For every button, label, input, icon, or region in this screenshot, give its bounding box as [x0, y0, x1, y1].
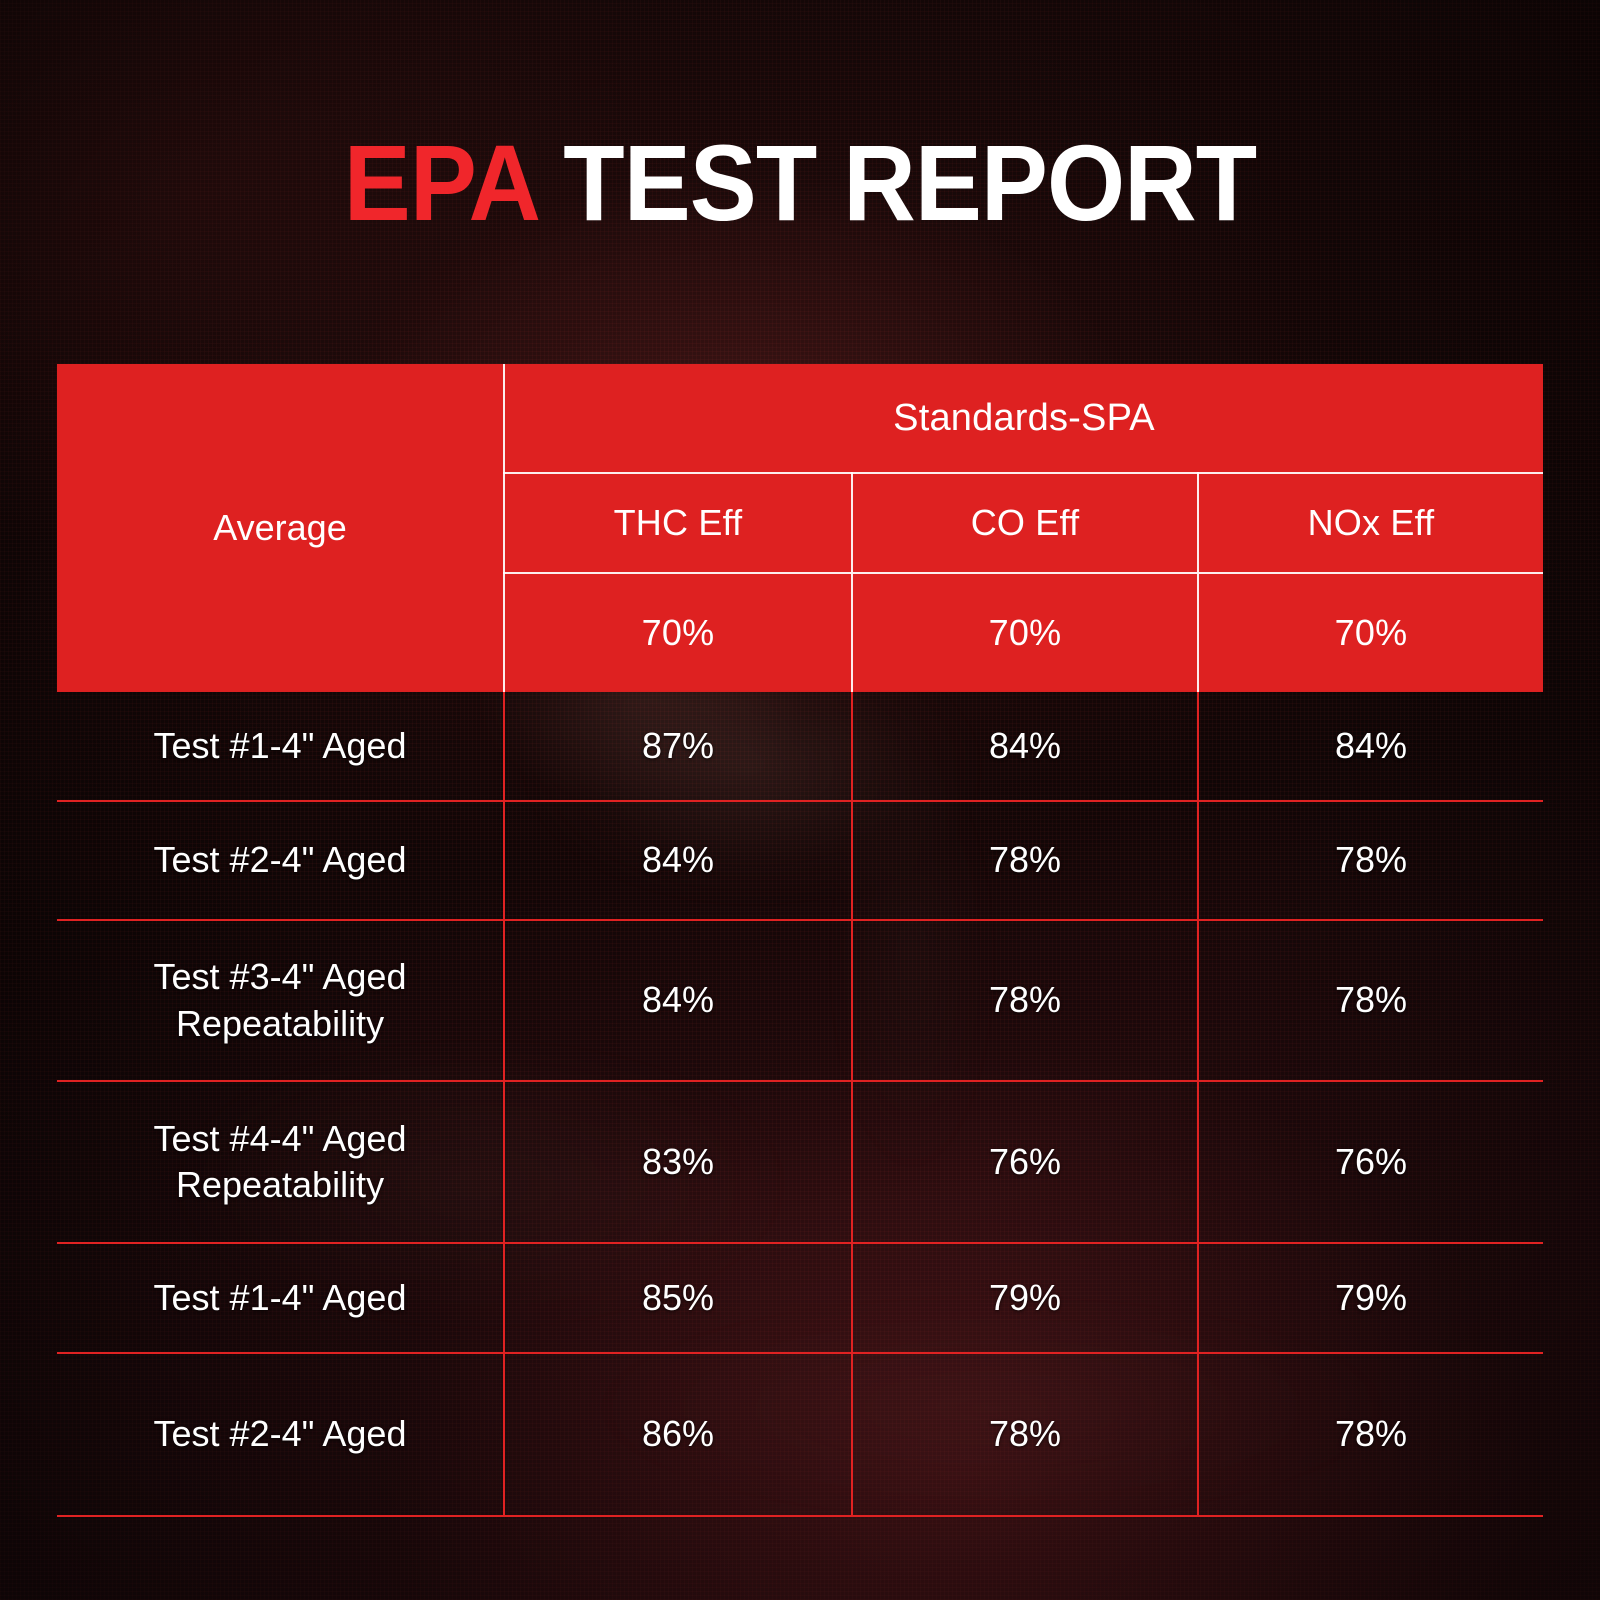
cell-co-eff: 76% — [852, 1081, 1198, 1243]
cell-co-eff: 78% — [852, 920, 1198, 1081]
table-row: Test #1-4" Aged 85% 79% 79% — [57, 1243, 1543, 1353]
row-label: Test #4-4" Aged Repeatability — [57, 1081, 504, 1243]
header-col-thc-eff: THC Eff — [504, 473, 852, 573]
cell-thc-eff: 84% — [504, 920, 852, 1081]
header-col-nox-eff: NOx Eff — [1198, 473, 1543, 573]
report-page: EPA TEST REPORT Average Standards-SPA TH… — [0, 0, 1600, 1600]
header-col-co-eff: CO Eff — [852, 473, 1198, 573]
cell-nox-eff: 76% — [1198, 1081, 1543, 1243]
table-row: Test #2-4" Aged 86% 78% 78% — [57, 1353, 1543, 1516]
cell-nox-eff: 78% — [1198, 920, 1543, 1081]
row-label: Test #1-4" Aged — [57, 692, 504, 801]
cell-thc-eff: 85% — [504, 1243, 852, 1353]
title-rest: TEST REPORT — [536, 122, 1256, 243]
table-body: Test #1-4" Aged 87% 84% 84% Test #2-4" A… — [57, 692, 1543, 1516]
table-row: Test #2-4" Aged 84% 78% 78% — [57, 801, 1543, 920]
cell-nox-eff: 78% — [1198, 1353, 1543, 1516]
header-average-label: Average — [57, 364, 504, 692]
table-header: Average Standards-SPA THC Eff CO Eff NOx… — [57, 364, 1543, 692]
cell-nox-eff: 78% — [1198, 801, 1543, 920]
table-row: Test #4-4" Aged Repeatability 83% 76% 76… — [57, 1081, 1543, 1243]
header-group-standards-spa: Standards-SPA — [504, 364, 1543, 473]
cell-nox-eff: 84% — [1198, 692, 1543, 801]
cell-nox-eff: 79% — [1198, 1243, 1543, 1353]
cell-co-eff: 84% — [852, 692, 1198, 801]
cell-thc-eff: 86% — [504, 1353, 852, 1516]
page-title: EPA TEST REPORT — [56, 128, 1544, 238]
cell-thc-eff: 83% — [504, 1081, 852, 1243]
cell-co-eff: 78% — [852, 1353, 1198, 1516]
cell-co-eff: 79% — [852, 1243, 1198, 1353]
epa-results-table-wrapper: Average Standards-SPA THC Eff CO Eff NOx… — [57, 364, 1543, 1516]
standard-value-nox: 70% — [1198, 573, 1543, 692]
row-label: Test #2-4" Aged — [57, 801, 504, 920]
row-label: Test #1-4" Aged — [57, 1243, 504, 1353]
row-label: Test #3-4" Aged Repeatability — [57, 920, 504, 1081]
table-row: Test #3-4" Aged Repeatability 84% 78% 78… — [57, 920, 1543, 1081]
cell-thc-eff: 87% — [504, 692, 852, 801]
header-row-group: Average Standards-SPA — [57, 364, 1543, 473]
title-accent-word: EPA — [344, 122, 537, 243]
epa-results-table: Average Standards-SPA THC Eff CO Eff NOx… — [57, 364, 1543, 1517]
cell-co-eff: 78% — [852, 801, 1198, 920]
standard-value-co: 70% — [852, 573, 1198, 692]
standard-value-thc: 70% — [504, 573, 852, 692]
table-row: Test #1-4" Aged 87% 84% 84% — [57, 692, 1543, 801]
row-label: Test #2-4" Aged — [57, 1353, 504, 1516]
cell-thc-eff: 84% — [504, 801, 852, 920]
